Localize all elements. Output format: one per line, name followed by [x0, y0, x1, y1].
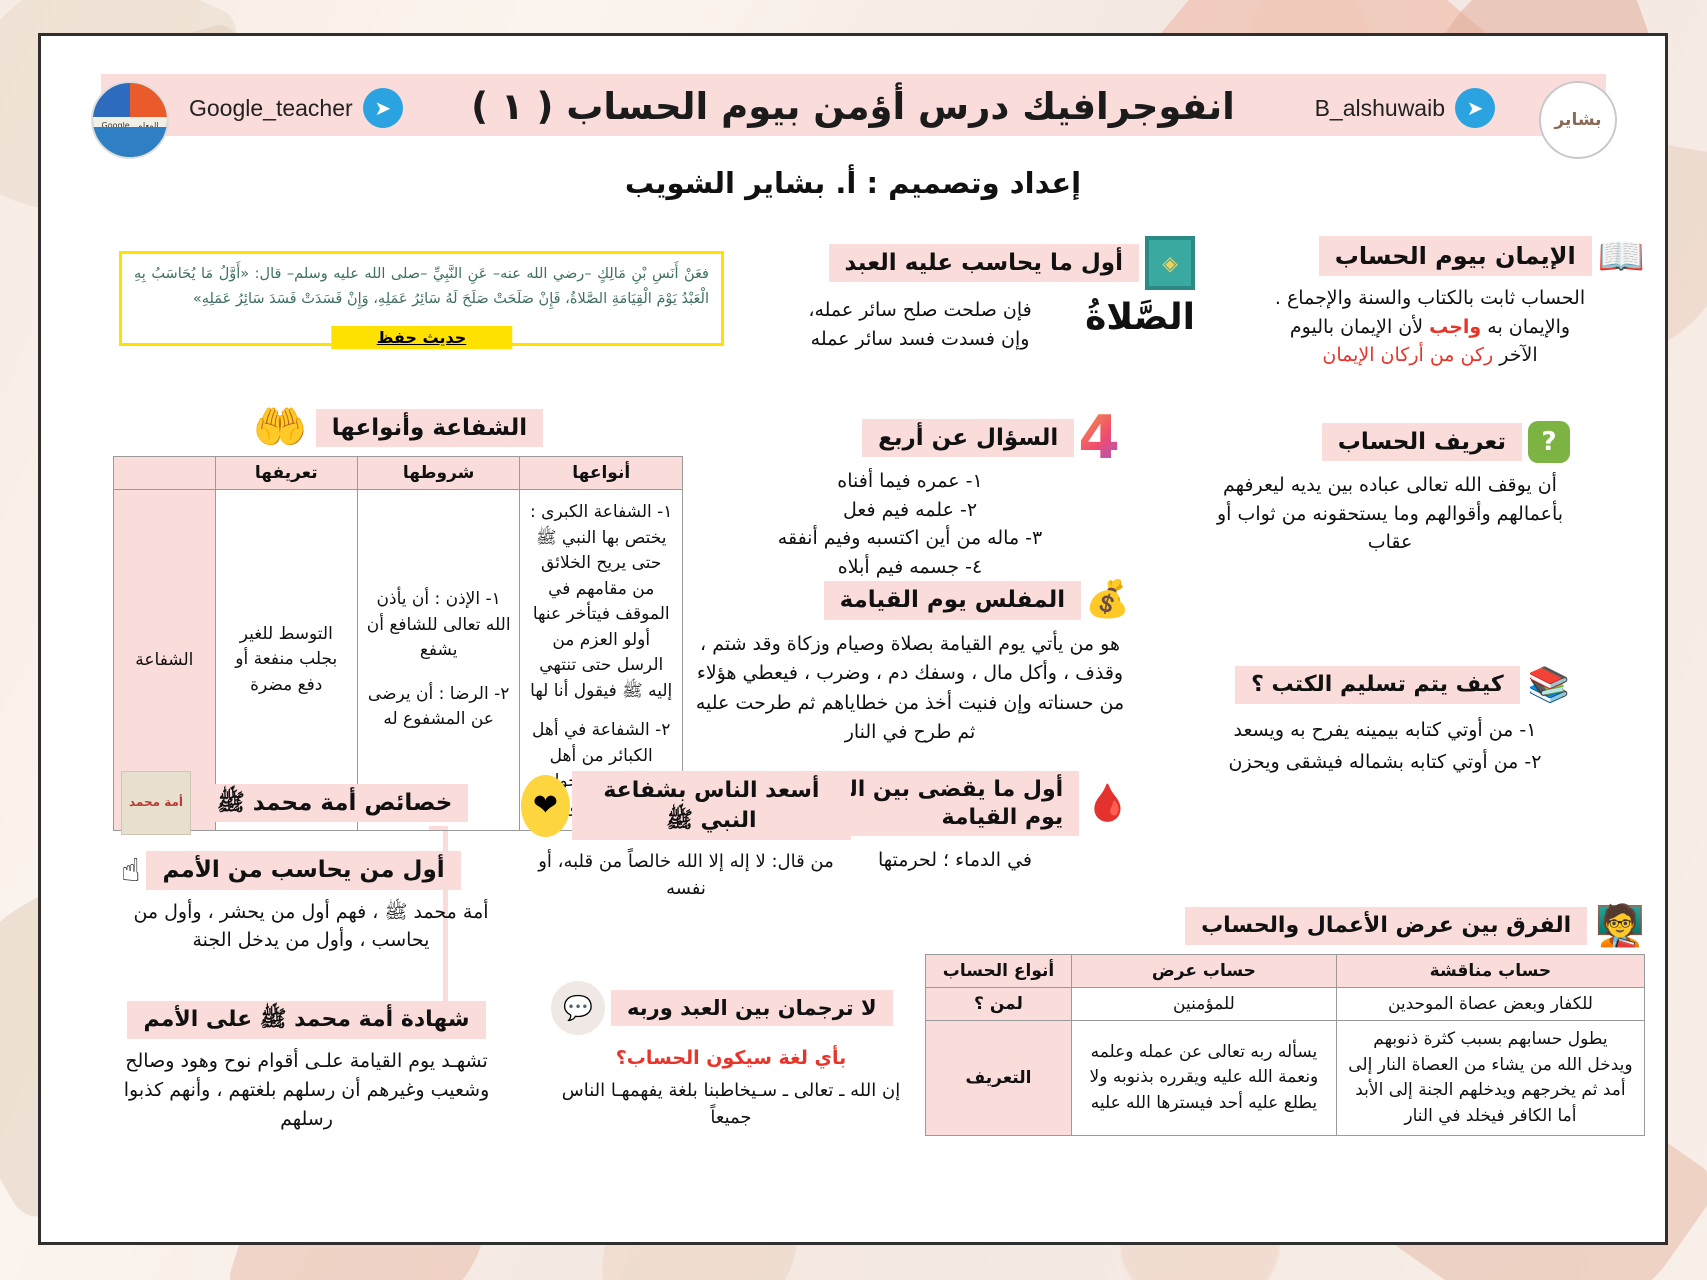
section-shafaa: الشفاعة وأنواعها 🤲 أنواعها شروطها تعريفه…: [113, 406, 683, 831]
table-row: يطول حسابهم بسبب كثرة ذنوبهم ويدخل الله …: [926, 1021, 1645, 1136]
open-book-icon: 📖: [1598, 237, 1645, 275]
iman-day-line3-a: الآخر: [1493, 344, 1537, 366]
shafaa-title: الشفاعة وأنواعها: [316, 409, 543, 448]
first-nation-body: أمة محمد ﷺ ، فهم أول من يحشر ، وأول من ي…: [121, 898, 501, 955]
author-logo: بشاير: [1539, 81, 1617, 159]
hadith-text: فعَنْ أَنَسِ بْنِ مَالِكٍ –رضي الله عنه–…: [122, 254, 721, 313]
no-translator-question: بأي لغة سيكون الحساب؟: [551, 1047, 911, 1069]
google-teacher-logo: المعلم . Google: [91, 81, 169, 159]
iman-day-line2: والإيمان به واجب لأن الإيمان باليوم: [1215, 313, 1645, 342]
shafaa-condition-2: ٢- الرضا : أن يرضى عن المشفوع له: [366, 682, 512, 733]
cell-munaqasha-definition: يطول حسابهم بسبب كثرة ذنوبهم ويدخل الله …: [1336, 1021, 1644, 1136]
list-item: ٢- من أوتي كتابه بشماله فيشقى ويحزن: [1200, 748, 1570, 777]
list-item: ٢- علمه فيم فعل: [700, 496, 1120, 525]
column-header-types: أنواع الحساب: [926, 955, 1072, 988]
section-books-delivery: 📚 كيف يتم تسليم الكتب ؟ ١- من أوتي كتابه…: [1200, 666, 1570, 777]
table-header-row: حساب مناقشة حساب عرض أنواع الحساب: [926, 955, 1645, 988]
section-difference-table: 🧑‍🏫 الفرق بين عرض الأعمال والحساب حساب م…: [925, 906, 1645, 1136]
ummah-testimony-body: تشهـد يوم القيامة علـى أقوام نوح وهود وص…: [109, 1047, 504, 1135]
column-header-munaqasha: حساب مناقشة: [1336, 955, 1644, 988]
books-delivery-title: كيف يتم تسليم الكتب ؟: [1235, 666, 1520, 704]
definition-hisab-title: تعريف الحساب: [1322, 423, 1522, 462]
first-account-line2: وإن فسدت فسد سائر عمله: [765, 325, 1075, 354]
telegram-icon: ➤: [363, 88, 403, 128]
section-no-translator: لا ترجمان بين العبد وربه 💬 بأي لغة سيكون…: [551, 981, 911, 1131]
hadith-box: فعَنْ أَنَسِ بْنِ مَالِكٍ –رضي الله عنه–…: [119, 251, 724, 346]
ummah-testimony-title: شهادة أمة محمد ﷺ على الأمم: [127, 1001, 485, 1039]
first-account-line1: فإن صلحت صلح سائر عمله،: [765, 296, 1075, 325]
cell-ard-who: للمؤمنين: [1071, 988, 1336, 1021]
definition-hisab-body: أن يوقف الله تعالى عباده بين يديه ليعرفه…: [1210, 471, 1570, 557]
list-item: ١- من أوتي كتابه بيمينه يفرح به ويسعد: [1200, 716, 1570, 745]
praying-hands-icon: 🤲: [253, 406, 308, 450]
first-nation-title: أول من يحاسب من الأمم: [146, 851, 460, 890]
column-header-definition: تعريفها: [215, 457, 357, 490]
table-row: للكفار وبعض عصاة الموحدين للمؤمنين لمن ؟: [926, 988, 1645, 1021]
section-first-judged-nation: أول من يحاسب من الأمم ☝ أمة محمد ﷺ ، فهم…: [121, 851, 501, 955]
iman-day-line2-a: والإيمان به: [1481, 316, 1570, 338]
author-credit: إعداد وتصميم : أ. بشاير الشويب: [41, 166, 1665, 200]
iman-day-line2-b: لأن الإيمان باليوم: [1290, 316, 1429, 338]
cell-munaqasha-who: للكفار وبعض عصاة الموحدين: [1336, 988, 1644, 1021]
hadith-memorize-tag: حديث حفظ: [331, 326, 512, 349]
ummah-traits-title: خصائص أمة محمد ﷺ: [201, 784, 468, 823]
iman-day-wajib: واجب: [1429, 316, 1481, 338]
column-header-ard: حساب عرض: [1071, 955, 1336, 988]
heart-icon: ❤: [521, 775, 570, 837]
section-muflis: 💰 المفلس يوم القيامة هو من يأتي يوم القي…: [690, 581, 1130, 748]
no-translator-body: إن الله ـ تعالى ـ سـيخاطبنا بلغة يفهمهـا…: [551, 1077, 911, 1131]
telegram-channel-google-teacher[interactable]: ➤ Google_teacher: [189, 88, 403, 128]
section-happiest-people: أسعد الناس بشفاعة النبي ﷺ ❤ من قال: لا إ…: [521, 771, 851, 902]
row-header-who: لمن ؟: [926, 988, 1072, 1021]
telegram-channel-b-alshuwaib[interactable]: ➤ B_alshuwaib: [1315, 88, 1495, 128]
telegram-right-label: B_alshuwaib: [1315, 95, 1445, 122]
books-stack-icon: 📚: [1528, 668, 1570, 702]
shafaa-condition-1: ١- الإذن : أن يأذن الله تعالى للشافع أن …: [366, 587, 512, 664]
first-account-body: فإن صلحت صلح سائر عمله، وإن فسدت فسد سائ…: [765, 296, 1075, 353]
list-item: ٣- ماله من أين اكتسبه وفيم أنفقه: [700, 524, 1120, 553]
blood-drop-icon: 🩸: [1085, 786, 1130, 822]
row-header-definition: التعريف: [926, 1021, 1072, 1136]
difference-table: حساب مناقشة حساب عرض أنواع الحساب للكفار…: [925, 954, 1645, 1136]
speech-bubbles-icon: 💬: [551, 981, 605, 1035]
section-four-questions: 4 السؤال عن أربع ١- عمره فيما أفناه ٢- ع…: [700, 411, 1120, 581]
telegram-icon: ➤: [1455, 88, 1495, 128]
iman-day-line1: الحساب ثابت بالكتاب والسنة والإجماع .: [1215, 284, 1645, 313]
ummah-muhammad-logo: أمة محمد: [121, 771, 191, 835]
column-header-blank: [114, 457, 216, 490]
prayer-rug-icon: ◈: [1145, 236, 1195, 290]
telegram-left-label: Google_teacher: [189, 95, 353, 122]
section-iman-day: 📖 الإيمان بيوم الحساب الحساب ثابت بالكتا…: [1215, 236, 1645, 370]
no-translator-title: لا ترجمان بين العبد وربه: [611, 990, 893, 1026]
iman-day-title: الإيمان بيوم الحساب: [1319, 236, 1592, 276]
money-bag-icon: 💰: [1085, 582, 1130, 618]
muflis-body: هو من يأتي يوم القيامة بصلاة وصيام وزكاة…: [690, 630, 1130, 748]
iman-day-body: الحساب ثابت بالكتاب والسنة والإجماع . وا…: [1215, 284, 1645, 370]
happiest-body: من قال: لا إله إلا الله خالصاً من قلبه، …: [521, 848, 851, 902]
iman-day-rukn: ركن من أركان الإيمان: [1322, 344, 1493, 366]
section-ummah-traits: خصائص أمة محمد ﷺ أمة محمد: [121, 771, 521, 835]
section-definition-hisab: ? تعريف الحساب أن يوقف الله تعالى عباده …: [1210, 421, 1570, 557]
happiest-title: أسعد الناس بشفاعة النبي ﷺ: [572, 771, 851, 840]
pointing-finger-icon: ☝: [121, 854, 140, 886]
column-header-conditions: شروطها: [357, 457, 520, 490]
section-ummah-testimony: شهادة أمة محمد ﷺ على الأمم تشهـد يوم الق…: [109, 1001, 504, 1135]
logo-left-desk: [93, 127, 167, 157]
infographic-sheet: المعلم . Google ➤ Google_teacher انفوجرا…: [38, 33, 1668, 1245]
list-item: ١- عمره فيما أفناه: [700, 467, 1120, 496]
number-four-icon: 4: [1078, 411, 1120, 465]
difference-table-title: الفرق بين عرض الأعمال والحساب: [1185, 907, 1587, 945]
first-account-title: أول ما يحاسب عليه العبد: [829, 244, 1139, 283]
muflis-title: المفلس يوم القيامة: [824, 581, 1082, 620]
question-mark-icon: ?: [1528, 421, 1570, 463]
books-delivery-list: ١- من أوتي كتابه بيمينه يفرح به ويسعد ٢-…: [1200, 716, 1570, 777]
cell-ard-definition: يسأله ربه تعالى عن عمله وعلمه ونعمة الله…: [1071, 1021, 1336, 1136]
table-header-row: أنواعها شروطها تعريفها: [114, 457, 683, 490]
iman-day-line3: الآخر ركن من أركان الإيمان: [1215, 341, 1645, 370]
column-header-types: أنواعها: [520, 457, 683, 490]
four-questions-list: ١- عمره فيما أفناه ٢- علمه فيم فعل ٣- ما…: [700, 467, 1120, 581]
shafaa-type-1: ١- الشفاعة الكبرى : يختص بها النبي ﷺ حتى…: [528, 500, 674, 704]
first-account-big-word: الصَّلاةُ: [1085, 296, 1195, 339]
section-first-account: ◈ أول ما يحاسب عليه العبد الصَّلاةُ فإن …: [765, 236, 1195, 353]
presenter-person-icon: 🧑‍🏫: [1595, 906, 1645, 946]
four-questions-title: السؤال عن أربع: [862, 419, 1074, 458]
list-item: ٤- جسمه فيم أبلاه: [700, 553, 1120, 582]
